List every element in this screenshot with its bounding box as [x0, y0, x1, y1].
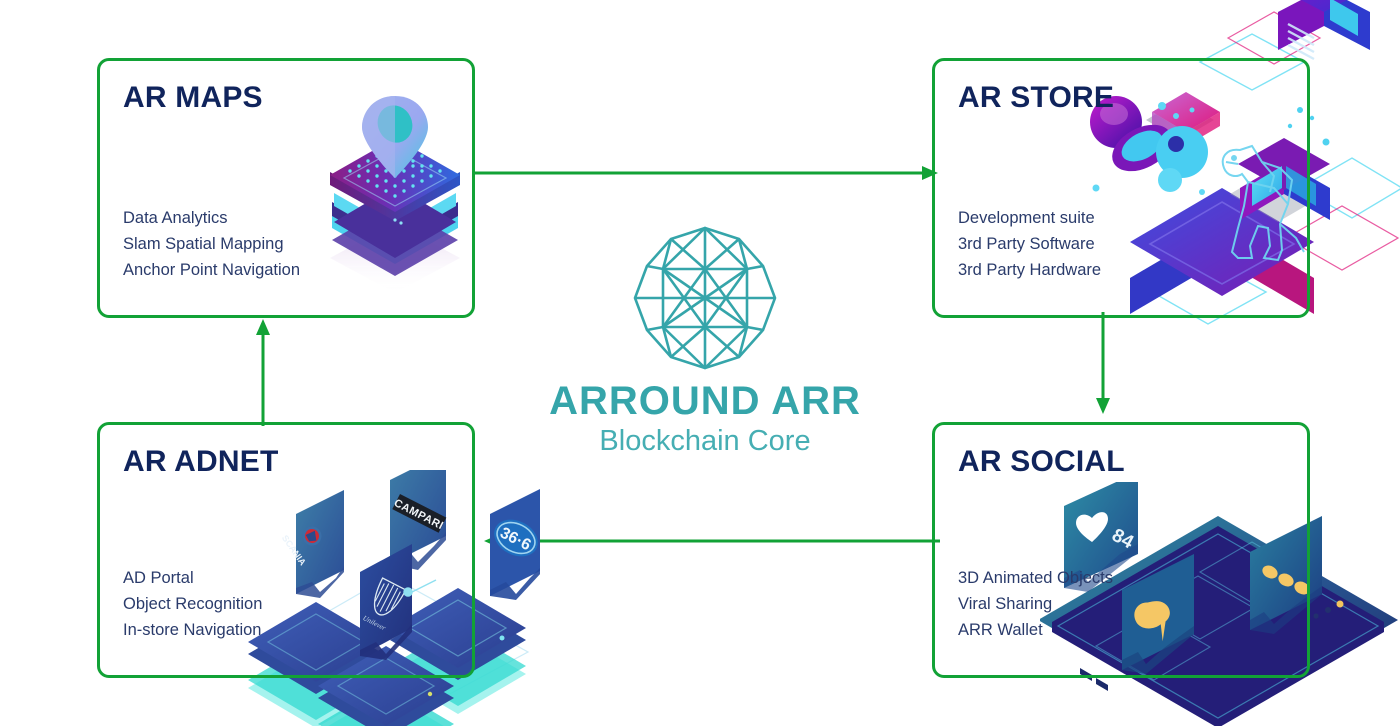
feature-item: Data Analytics — [123, 205, 300, 231]
panel-ar-maps[interactable]: AR MAPS Data Analytics Slam Spatial Mapp… — [97, 58, 475, 318]
brand-name: ARROUND ARR — [495, 380, 915, 422]
panel-title-ar-maps: AR MAPS — [123, 81, 263, 115]
panel-title-ar-adnet: AR ADNET — [123, 445, 278, 479]
arrow-left-icon — [484, 534, 500, 548]
feature-item: 3D Animated Objects — [958, 565, 1113, 591]
feature-item: AD Portal — [123, 565, 262, 591]
geodesic-sphere-icon — [629, 222, 781, 374]
connector-adnet-to-maps — [242, 316, 284, 428]
feature-item: Object Recognition — [123, 591, 262, 617]
panel-ar-store[interactable]: AR STORE Development suite 3rd Party Sof… — [932, 58, 1310, 318]
panel-title-ar-store: AR STORE — [958, 81, 1114, 115]
feature-item: Anchor Point Navigation — [123, 257, 300, 283]
connector-store-to-social — [1082, 310, 1124, 416]
feature-item: 3rd Party Hardware — [958, 257, 1101, 283]
panel-ar-adnet[interactable]: AR ADNET AD Portal Object Recognition In… — [97, 422, 475, 678]
feature-item: Viral Sharing — [958, 591, 1113, 617]
feature-item: Slam Spatial Mapping — [123, 231, 300, 257]
feature-item: 3rd Party Software — [958, 231, 1101, 257]
feature-item: In-store Navigation — [123, 617, 262, 643]
arrow-down-icon — [1096, 398, 1110, 414]
panel-features-ar-maps: Data Analytics Slam Spatial Mapping Anch… — [123, 205, 300, 283]
feature-item: Development suite — [958, 205, 1101, 231]
brand-logo-block: ARROUND ARR Blockchain Core — [495, 222, 915, 459]
panel-features-ar-adnet: AD Portal Object Recognition In-store Na… — [123, 565, 262, 643]
feature-item: ARR Wallet — [958, 617, 1113, 643]
panel-features-ar-store: Development suite 3rd Party Software 3rd… — [958, 205, 1101, 283]
arrow-up-icon — [256, 319, 270, 335]
panel-features-ar-social: 3D Animated Objects Viral Sharing ARR Wa… — [958, 565, 1113, 643]
diagram-canvas: ARROUND ARR Blockchain Core — [0, 0, 1400, 726]
panel-ar-social[interactable]: AR SOCIAL 3D Animated Objects Viral Shar… — [932, 422, 1310, 678]
connector-maps-to-store — [470, 152, 940, 194]
connector-social-to-adnet — [482, 520, 942, 562]
brand-tagline: Blockchain Core — [495, 424, 915, 459]
panel-title-ar-social: AR SOCIAL — [958, 445, 1125, 479]
